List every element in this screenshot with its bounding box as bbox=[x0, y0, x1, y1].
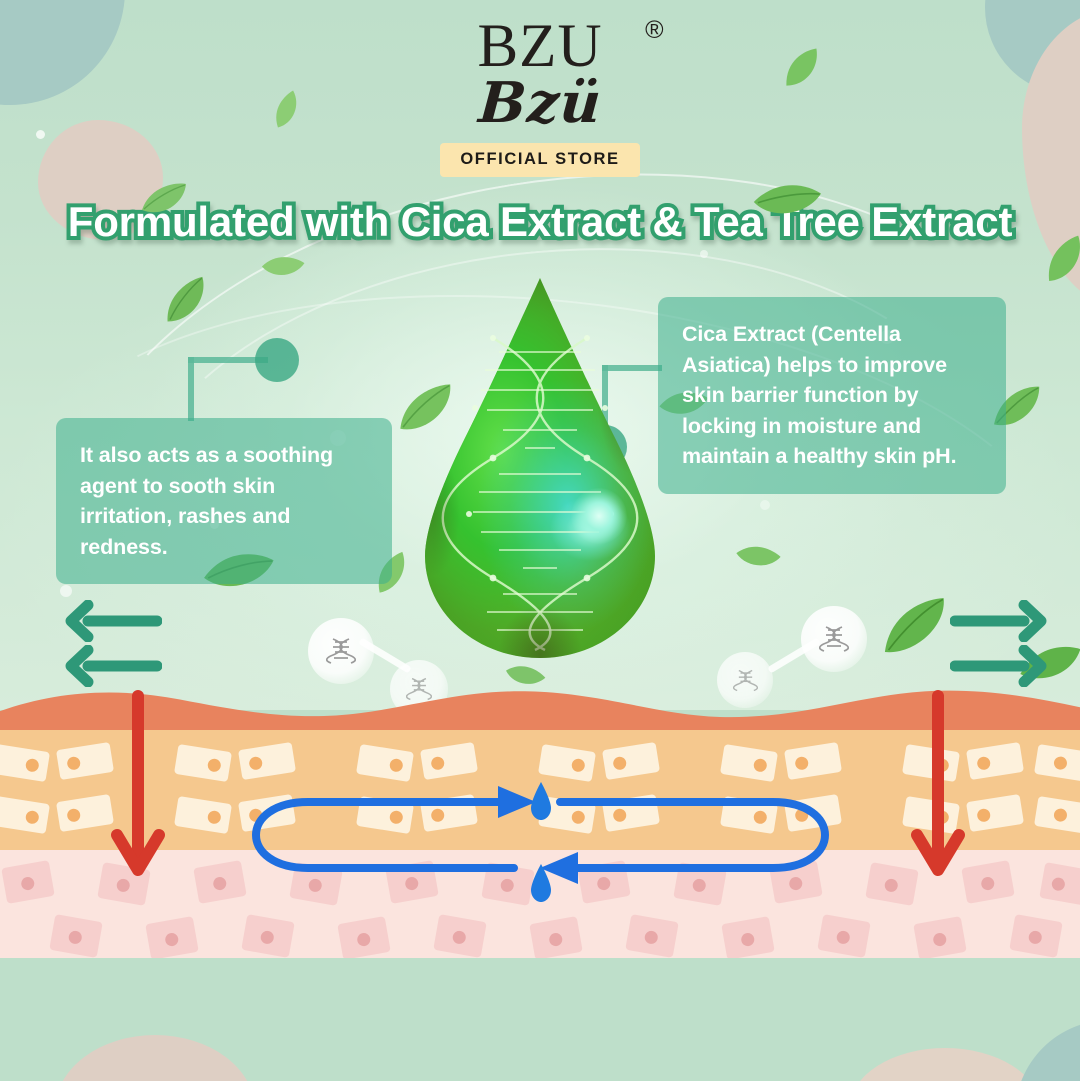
moisture-droplet-up-icon bbox=[528, 782, 554, 820]
decor-sparkle bbox=[760, 500, 770, 510]
decor-sparkle bbox=[60, 585, 72, 597]
dna-helix-icon bbox=[326, 636, 356, 666]
molecule-bubble bbox=[308, 618, 374, 684]
leaf-icon bbox=[140, 180, 188, 220]
registered-trademark-icon: ® bbox=[645, 18, 664, 43]
serum-droplet-graphic bbox=[425, 278, 655, 658]
skin-cell bbox=[337, 916, 391, 958]
decor-blob-bottom-left-beige bbox=[55, 1035, 255, 1081]
dna-helix-icon bbox=[819, 624, 849, 654]
callout-left-text: It also acts as a soothing agent to soot… bbox=[80, 443, 333, 559]
absorb-arrow-right-1-icon bbox=[950, 600, 1050, 642]
droplet-highlight bbox=[571, 488, 627, 544]
skin-cell bbox=[913, 916, 967, 958]
absorb-arrow-left-2-icon bbox=[62, 645, 162, 687]
brand-logo: BZU ® Bzü OFFICIAL STORE bbox=[0, 16, 1080, 177]
absorb-arrow-right-2-icon bbox=[950, 645, 1050, 687]
skin-cell bbox=[721, 916, 775, 958]
moisture-droplet-down-icon bbox=[528, 864, 554, 902]
penetration-arrow-left-icon bbox=[108, 690, 168, 878]
logo-secondary-label: Bzü bbox=[477, 75, 604, 131]
molecule-bubble bbox=[801, 606, 867, 672]
infographic-canvas: BZU ® Bzü OFFICIAL STORE Formulated with… bbox=[0, 0, 1080, 1081]
absorb-arrow-left-1-icon bbox=[62, 600, 162, 642]
skin-cell bbox=[145, 916, 199, 958]
penetration-arrow-right-icon bbox=[908, 690, 968, 878]
decor-sparkle bbox=[700, 250, 708, 258]
official-store-badge: OFFICIAL STORE bbox=[440, 143, 639, 177]
skin-cell bbox=[529, 916, 583, 958]
callout-right-text: Cica Extract (Centella Asiatica) helps t… bbox=[682, 322, 956, 468]
callout-left: It also acts as a soothing agent to soot… bbox=[56, 418, 392, 584]
callout-right: Cica Extract (Centella Asiatica) helps t… bbox=[658, 297, 1006, 494]
logo-primary-text: BZU ® bbox=[478, 16, 603, 77]
decor-blob-bottom-right-teal bbox=[1015, 1020, 1080, 1081]
decor-blob-bottom-right-beige bbox=[850, 1048, 1040, 1081]
